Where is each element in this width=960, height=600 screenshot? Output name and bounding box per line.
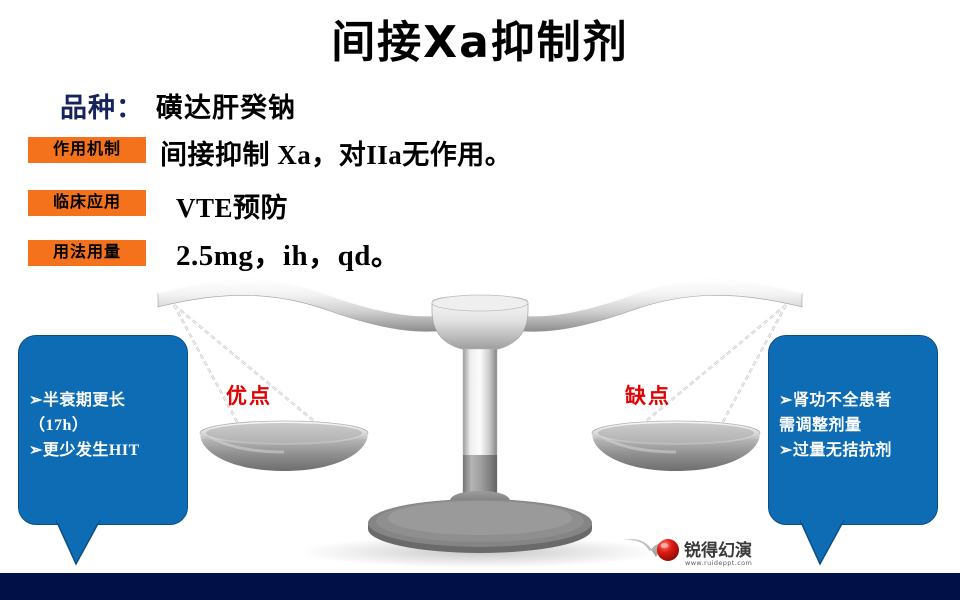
value-mechanism: 间接抑制 Xa，对IIa无作用。 (160, 133, 512, 172)
callout-disadvantages-tail (800, 520, 846, 560)
brand-logo: 锐得幻演 www.ruideppt.com (622, 534, 762, 568)
bottom-bar (0, 573, 960, 600)
callout-advantages-line-3: ➢更少发生HIT (29, 438, 177, 463)
callout-advantages: ➢半衰期更长 （17h） ➢更少发生HIT (18, 335, 188, 525)
logo-url: www.ruideppt.com (685, 559, 752, 567)
callout-disadvantages-body: ➢肾功不全患者 需调整剂量 ➢过量无拮抗剂 (769, 336, 937, 463)
balance-scale-illustration (150, 255, 810, 575)
logo-name: 锐得幻演 (684, 540, 752, 561)
callout-advantages-body: ➢半衰期更长 （17h） ➢更少发生HIT (19, 336, 187, 463)
cons-label: 缺点 (625, 380, 671, 410)
callout-disadvantages-line-1: ➢肾功不全患者 (779, 388, 927, 413)
callout-disadvantages-line-2: 需调整剂量 (779, 413, 927, 438)
tag-clinical-use: 临床应用 (28, 190, 146, 216)
callout-advantages-tail (56, 520, 102, 560)
brand-value: 磺达肝癸钠 (156, 93, 296, 123)
callout-advantages-line-1: ➢半衰期更长 (29, 388, 177, 413)
pros-label: 优点 (226, 380, 272, 410)
brand-label: 品种： (60, 93, 144, 123)
slide-canvas: 间接Ⅹa抑制剂 品种：磺达肝癸钠 作用机制 临床应用 用法用量 间接抑制 Xa，… (0, 0, 960, 600)
brand-row: 品种：磺达肝癸钠 (60, 86, 296, 125)
callout-disadvantages: ➢肾功不全患者 需调整剂量 ➢过量无拮抗剂 (768, 335, 938, 525)
callout-advantages-line-2: （17h） (29, 413, 177, 438)
tag-mechanism: 作用机制 (28, 137, 146, 163)
page-title: 间接Ⅹa抑制剂 (0, 6, 960, 70)
callout-disadvantages-line-3: ➢过量无拮抗剂 (779, 438, 927, 463)
value-clinical-use: VTE预防 (176, 186, 288, 225)
tag-dosage: 用法用量 (28, 240, 146, 266)
